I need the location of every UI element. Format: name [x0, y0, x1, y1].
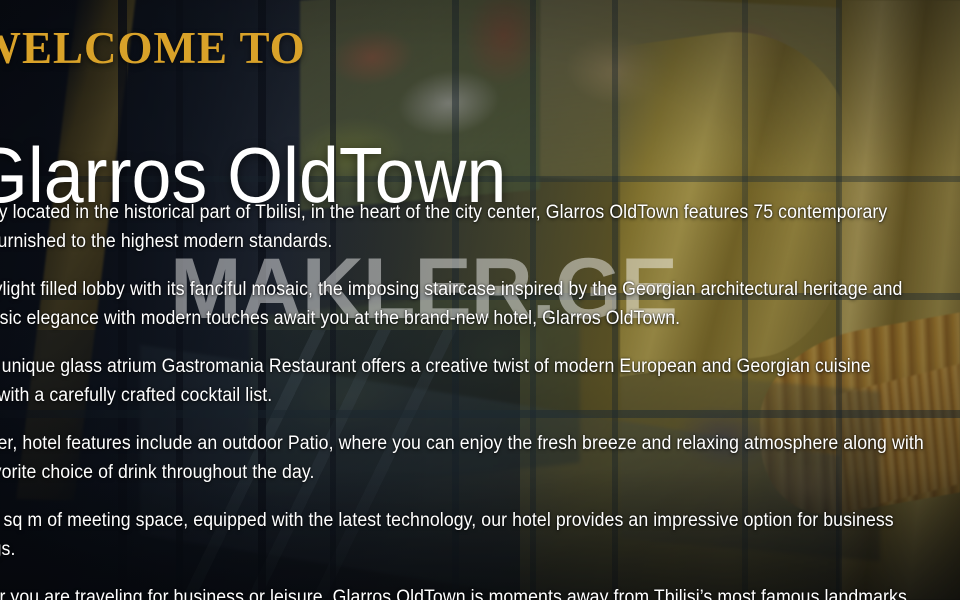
description-paragraph: Moreover, hotel features include an outd… [0, 429, 924, 487]
description-paragraph: Whether you are traveling for business o… [0, 583, 924, 600]
hero-content: WELCOME TO Glarros OldTown Perfectly loc… [0, 0, 960, 600]
description-paragraph: With 50 sq m of meeting space, equipped … [0, 506, 924, 564]
description-paragraph: With its unique glass atrium Gastromania… [0, 352, 924, 410]
hotel-hero-page: MAKLER.GE WELCOME TO Glarros OldTown Per… [0, 0, 960, 600]
hotel-description: Perfectly located in the historical part… [0, 198, 924, 600]
description-paragraph: The daylight filled lobby with its fanci… [0, 275, 924, 333]
description-paragraph: Perfectly located in the historical part… [0, 198, 924, 256]
hero-eyebrow: WELCOME TO [0, 24, 306, 74]
